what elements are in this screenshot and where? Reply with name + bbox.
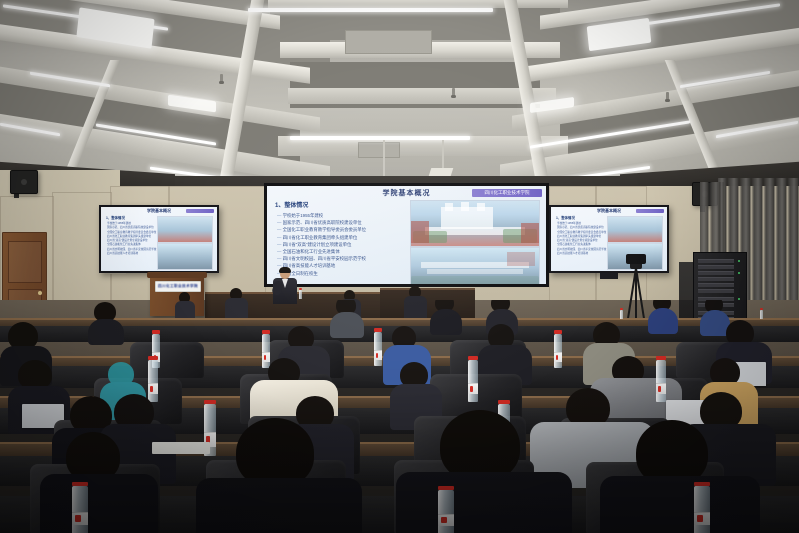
water-bottle: [656, 360, 666, 402]
bottle-cap: [498, 400, 510, 404]
bottle-label: [374, 350, 382, 360]
side-monitor-left: 学院基本概况 1、整体情况 学校始于1955年建校 国家示范、四川省优质高职院校…: [99, 205, 219, 273]
bottle-label: [554, 352, 562, 362]
slide-bullet: 四川省“双高”建设计划立项建设单位: [277, 241, 397, 248]
side-slide-bullet: 四川省高技能人才培训基地: [557, 252, 609, 256]
ceiling-vent: [345, 30, 432, 54]
side-monitor-right-mount: [600, 273, 618, 279]
water-bottle: [299, 290, 302, 299]
slide-ribbon-banner: 四川化工职业技术学院: [472, 189, 542, 197]
bottle-cap: [374, 328, 382, 332]
sprinkler-head: [452, 88, 455, 97]
slide-bullet: 国家示范、四川省优质高职院校建设单位: [277, 219, 397, 226]
slide-photo-campus-main: [410, 200, 540, 247]
slide-bullet: 四川省文明校园、四川省平安校园示范学校: [277, 255, 397, 262]
bottle-label: [694, 512, 710, 525]
side-slide-heading: 1、整体情况: [556, 215, 575, 220]
projector-mount-rod: [383, 140, 385, 180]
side-monitor-right-slide: 学院基本概况 1、整体情况 学校始于1955年建校 国家示范、四川省优质高职院校…: [551, 207, 667, 271]
water-bottle: [438, 490, 454, 533]
video-camera: [626, 254, 646, 264]
bottle-label: [656, 383, 666, 395]
wall-speaker-left: [10, 170, 38, 194]
water-bottle: [554, 334, 562, 368]
water-bottle: [760, 310, 763, 319]
bottle-cap: [656, 356, 666, 360]
side-monitor-right: 学院基本概况 1、整体情况 学校始于1955年建校 国家示范、四川省优质高职院校…: [549, 205, 669, 273]
side-slide-ribbon: [186, 209, 214, 213]
paper-document: [152, 442, 210, 454]
bottle-cap: [554, 330, 562, 334]
water-bottle: [694, 486, 710, 533]
bottle-cap: [72, 482, 88, 486]
bottle-cap: [148, 356, 158, 360]
lectern-top-surface: [147, 272, 207, 278]
water-bottle: [374, 332, 382, 366]
bottle-label: [148, 383, 158, 395]
slide-bullet: 全国化工职业教育教学指导委员会委员单位: [277, 226, 397, 233]
presenter-hair: [279, 267, 291, 273]
chair: [130, 342, 204, 378]
bottle-label: [262, 352, 270, 362]
conference-hall-photo: 学院基本概况 四川化工职业技术学院 1、整体情况 学校始于1955年建校 国家示…: [0, 0, 799, 533]
bottle-label: [438, 514, 454, 526]
bottle-cap: [438, 486, 454, 490]
slide-photo-campus-secondary: [410, 247, 540, 284]
side-slide-heading: 1、整体情况: [106, 215, 125, 220]
side-slide-ribbon: [636, 209, 664, 213]
bottle-label: [72, 512, 88, 525]
ceiling-vent-2: [358, 142, 400, 158]
audience-area: [0, 300, 799, 533]
side-monitor-left-slide: 学院基本概况 1、整体情况 学校始于1955年建校 国家示范、四川省优质高职院校…: [101, 207, 217, 271]
side-slide-bullets: 学校始于1955年建校 国家示范、四川省优质高职院校建设单位 全国化工职业教育教…: [107, 222, 159, 256]
projector-mount-bracket: [429, 168, 454, 176]
water-bottle: [620, 310, 623, 319]
slide-content: 学院基本概况 四川化工职业技术学院 1、整体情况 学校始于1955年建校 国家示…: [267, 186, 546, 284]
sprinkler-head: [220, 74, 223, 83]
side-slide-photo-1: [607, 216, 663, 243]
projection-screen: 学院基本概况 四川化工职业技术学院 1、整体情况 学校始于1955年建校 国家示…: [264, 183, 549, 287]
water-bottle: [148, 360, 158, 402]
side-slide-bullet: 四川省高技能人才培训基地: [107, 252, 159, 256]
bottle-cap: [204, 400, 216, 404]
door-knob[interactable]: [38, 291, 42, 295]
ceiling: [0, 0, 799, 183]
water-bottle: [262, 334, 270, 368]
slide-bullet: 四川省化工职业教育集团牵头组建单位: [277, 234, 397, 241]
side-slide-photo-1: [157, 216, 213, 243]
bottle-cap: [152, 330, 160, 334]
bottle-cap: [262, 330, 270, 334]
lectern-nameplate: 四川化工职业技术学院: [155, 281, 201, 292]
water-bottle: [468, 360, 478, 402]
bottle-cap: [468, 356, 478, 360]
presenter: [272, 268, 298, 304]
side-slide-photo-2: [157, 243, 213, 270]
slide-bullet: 全国石油和化工行业先进集体: [277, 248, 397, 255]
slide-section-heading: 1、整体情况: [275, 200, 308, 209]
lectern-nameplate-text: 四川化工职业技术学院: [156, 282, 200, 291]
side-slide-bullets: 学校始于1955年建校 国家示范、四川省优质高职院校建设单位 全国化工职业教育教…: [557, 222, 609, 256]
bottle-cap: [694, 482, 710, 486]
sprinkler-head: [666, 92, 669, 101]
bottle-label: [468, 383, 478, 395]
slide-bullet: 学校始于1955年建校: [277, 212, 397, 219]
water-bottle: [72, 486, 88, 533]
